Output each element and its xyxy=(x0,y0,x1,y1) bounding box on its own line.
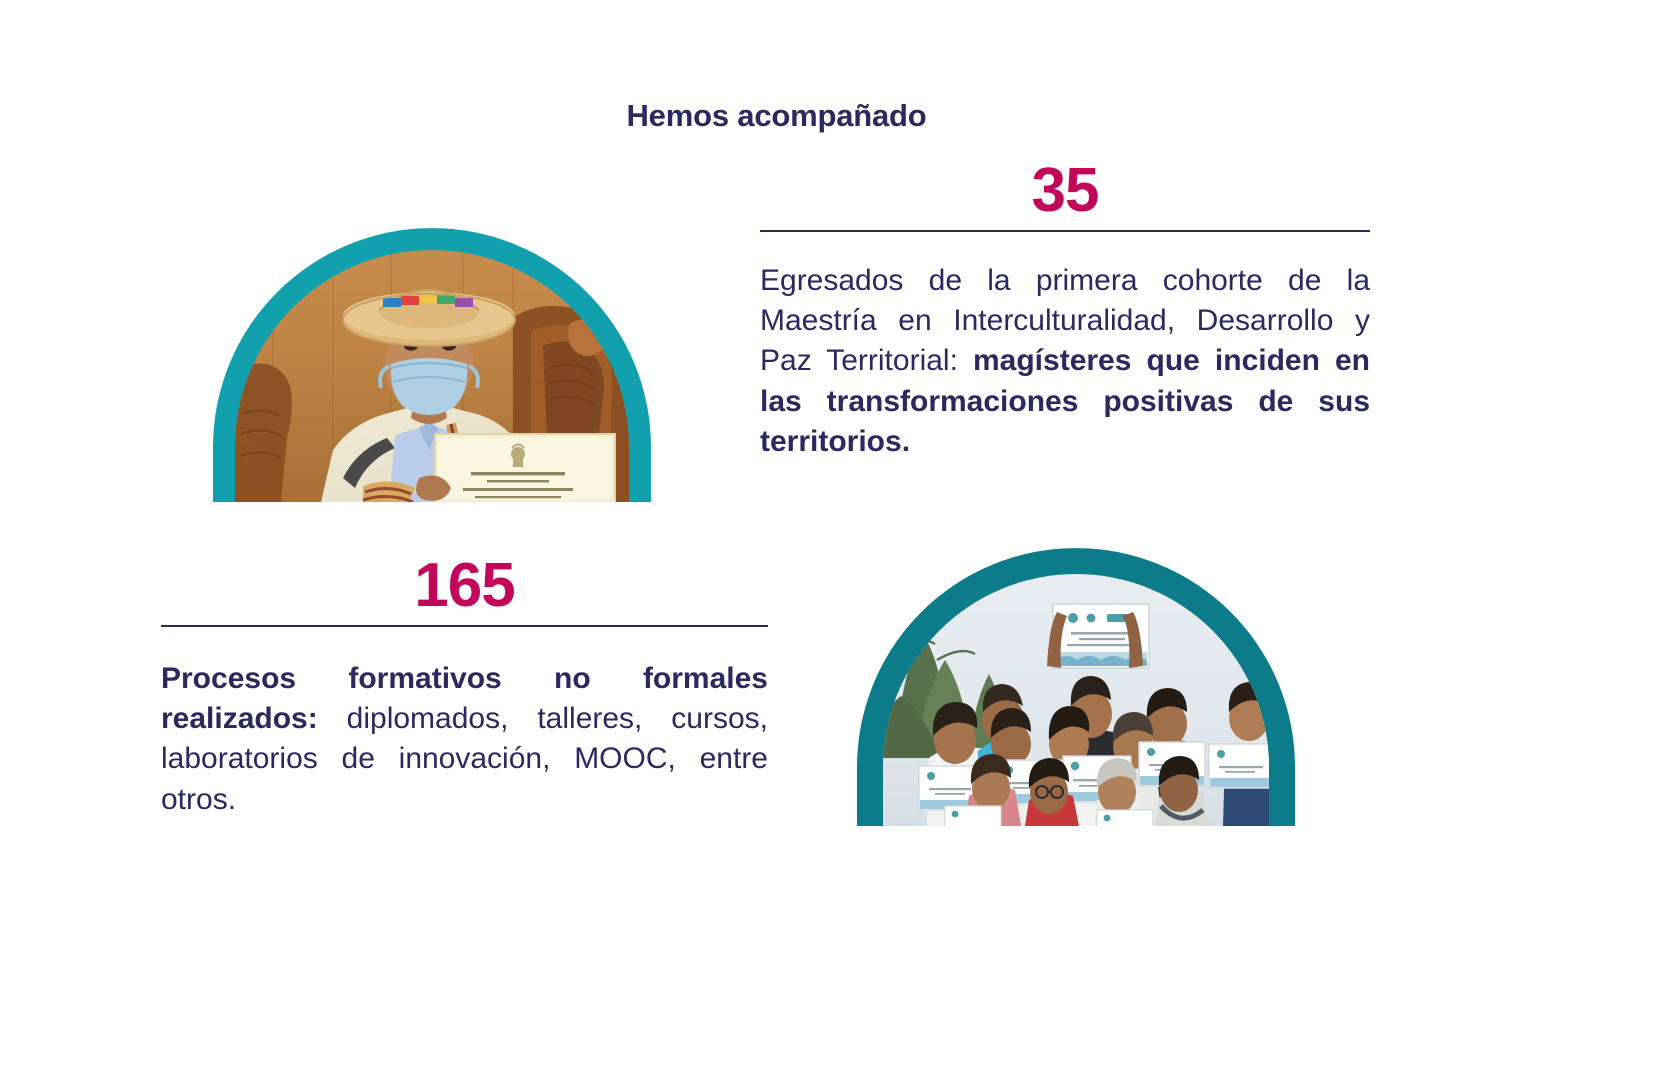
stat-rule-divider xyxy=(760,230,1370,232)
photo-content xyxy=(213,228,651,502)
stat-number-165: 165 xyxy=(161,555,768,617)
stat-rule-divider xyxy=(161,625,768,627)
photo-content xyxy=(857,548,1295,826)
stat-block-egresados-maestria: 35 Egresados de la primera cohorte de la… xyxy=(760,160,1370,462)
stat-block-procesos-formativos: 165 Procesos formativos no formales real… xyxy=(161,555,768,820)
graduate-with-diploma-photo xyxy=(213,228,651,502)
group-with-certificates-photo xyxy=(857,548,1295,826)
stat-number-35: 35 xyxy=(760,160,1370,222)
infographic-canvas: Hemos acompañado 35 Egresados de la prim… xyxy=(0,0,1657,1081)
page-title: Hemos acompañado xyxy=(0,98,1605,134)
stat-description-egresados: Egresados de la primera cohorte de la Ma… xyxy=(760,261,1370,462)
stat-description-procesos: Procesos formativos no formales realizad… xyxy=(161,659,768,820)
